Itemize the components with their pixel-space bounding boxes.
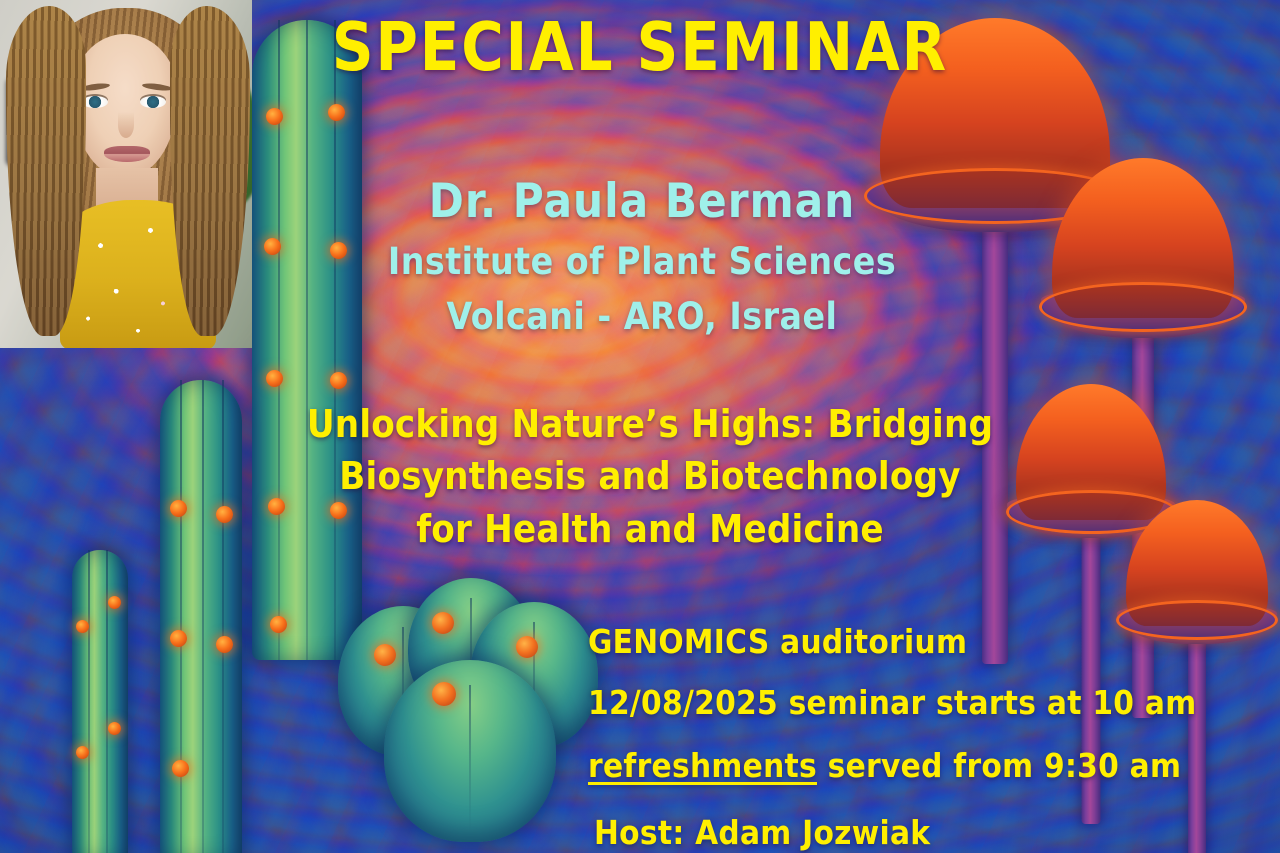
speaker-affiliation-line-1: Institute of Plant Sciences: [262, 243, 1022, 280]
event-details: GENOMICS auditorium 12/08/2025 seminar s…: [560, 622, 1260, 852]
page-title: SPECIAL SEMINAR: [26, 14, 1255, 81]
talk-title-line-2: Biosynthesis and Biotechnology: [240, 450, 1060, 502]
event-venue: GENOMICS auditorium: [588, 622, 1260, 661]
speaker-name: Dr. Paula Berman: [262, 178, 1022, 225]
refreshments-label: refreshments: [588, 746, 817, 785]
event-host: Host: Adam Jozwiak: [594, 813, 1260, 852]
event-datetime: 12/08/2025 seminar starts at 10 am: [588, 683, 1260, 722]
refreshments-details: served from 9:30 am: [817, 746, 1181, 785]
speaker-affiliation-line-2: Volcani - ARO, Israel: [262, 298, 1022, 335]
talk-title: Unlocking Nature’s Highs: Bridging Biosy…: [240, 398, 1060, 555]
talk-title-line-3: for Health and Medicine: [240, 503, 1060, 555]
talk-title-line-1: Unlocking Nature’s Highs: Bridging: [240, 398, 1060, 450]
event-refreshments: refreshments served from 9:30 am: [588, 746, 1260, 785]
seminar-poster: SPECIAL SEMINAR Dr. Paula Berman Institu…: [0, 0, 1280, 853]
poster-text-layer: SPECIAL SEMINAR Dr. Paula Berman Institu…: [0, 0, 1280, 853]
